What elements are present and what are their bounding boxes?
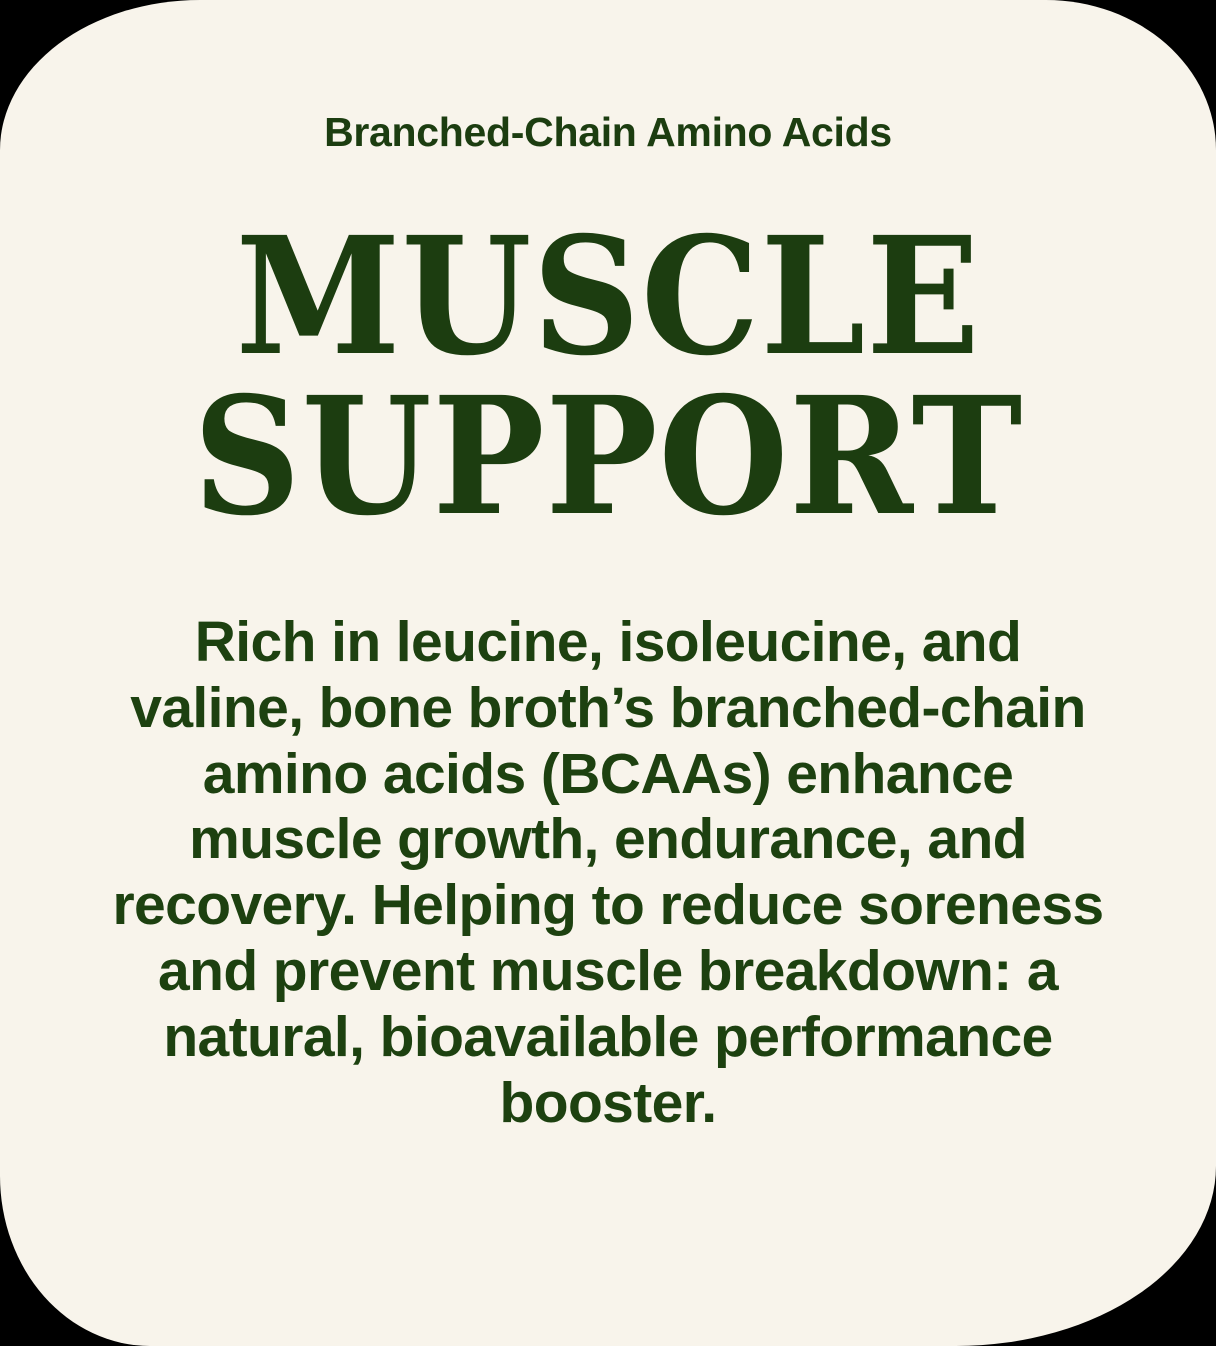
card-content: Branched-Chain Amino Acids MUSCLE SUPPOR…: [0, 0, 1216, 1346]
card-heading: MUSCLE SUPPORT: [193, 217, 1023, 538]
screenshot-stage: Branched-Chain Amino Acids MUSCLE SUPPOR…: [0, 0, 1216, 1346]
card-eyebrow: Branched-Chain Amino Acids: [324, 110, 892, 155]
card-body-text: Rich in leucine, isoleucine, and valine,…: [103, 610, 1113, 1137]
